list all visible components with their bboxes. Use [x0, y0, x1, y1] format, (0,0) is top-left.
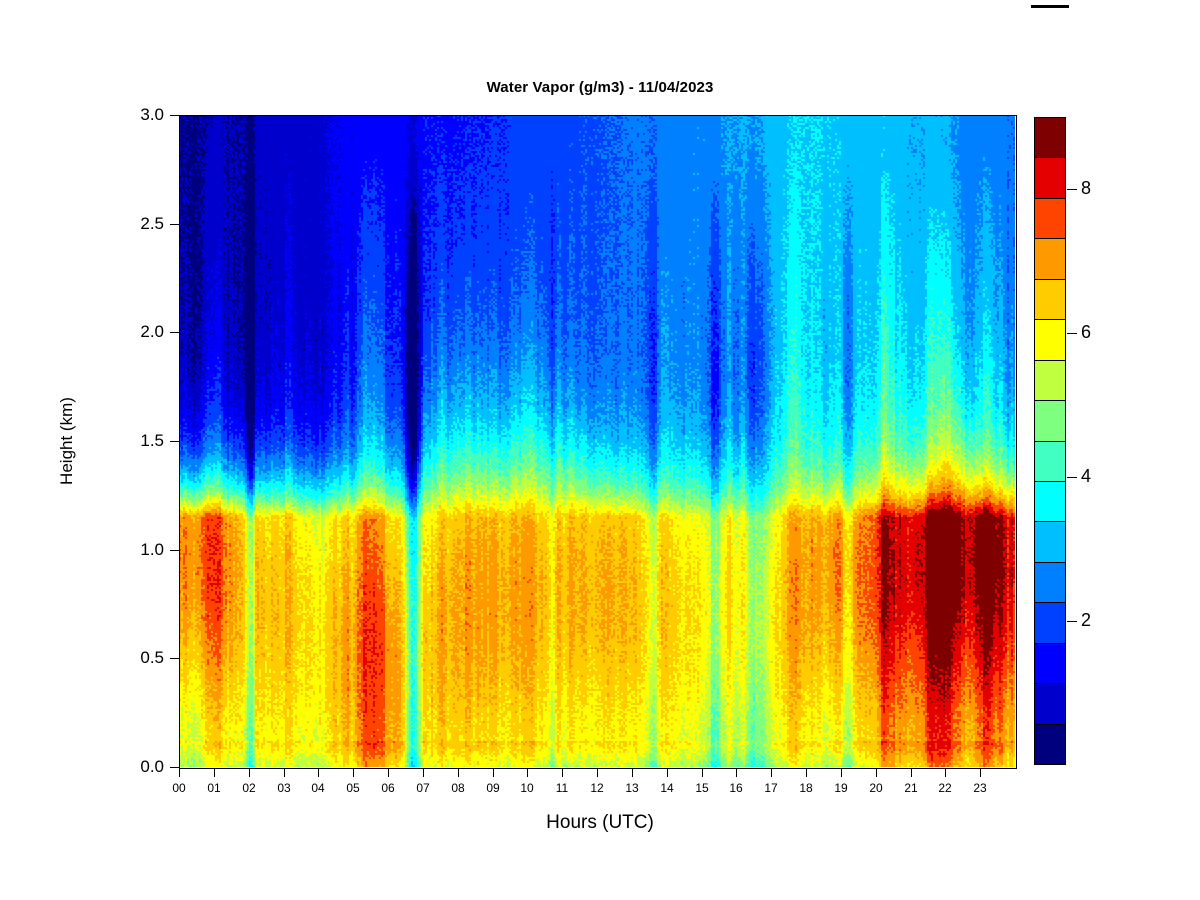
x-axis-tick-mark [284, 768, 285, 777]
water-vapor-figure: Water Vapor (g/m3) - 11/04/2023 0.00.51.… [0, 0, 1200, 900]
y-axis-title-wrap: Height (km) [52, 406, 82, 476]
colorbar-band [1035, 441, 1065, 481]
y-axis-tick-label-wrap: 0.0 [100, 758, 164, 775]
x-axis-tick-label: 22 [925, 780, 965, 796]
x-axis-tick-label: 23 [960, 780, 1000, 796]
y-axis-tick-mark [170, 115, 179, 116]
colorbar-band [1035, 602, 1065, 642]
x-axis-tick-label: 05 [333, 780, 373, 796]
x-axis-tick-label: 07 [403, 780, 443, 796]
y-axis-tick-label-wrap: 1.5 [100, 432, 164, 449]
colorbar-band [1035, 683, 1065, 723]
colorbar-tick-mark [1067, 621, 1077, 622]
y-axis-tick-label-wrap: 0.5 [100, 649, 164, 666]
x-axis-tick-label-wrap: 23 [960, 780, 1000, 796]
colorbar-band [1035, 118, 1065, 157]
x-axis-tick-mark [911, 768, 912, 777]
x-axis-tick-label: 17 [751, 780, 791, 796]
colorbar-tick-label-wrap: 2 [1081, 611, 1121, 630]
colorbar-band [1035, 643, 1065, 683]
x-axis-tick-label-wrap: 12 [577, 780, 617, 796]
y-axis-tick-label: 3.0 [104, 106, 164, 123]
y-axis-tick-label: 1.0 [104, 541, 164, 558]
x-axis-tick-mark [423, 768, 424, 777]
x-axis-tick-mark [667, 768, 668, 777]
y-axis-title: Height (km) [57, 366, 77, 516]
x-axis-tick-label: 04 [298, 780, 338, 796]
x-axis-tick-label: 20 [856, 780, 896, 796]
x-axis-tick-mark [353, 768, 354, 777]
x-axis-tick-mark [214, 768, 215, 777]
y-axis-tick-label: 2.5 [104, 215, 164, 232]
y-axis-tick-mark [170, 441, 179, 442]
x-axis-tick-label: 19 [821, 780, 861, 796]
x-axis-tick-label: 08 [438, 780, 478, 796]
x-axis-tick-mark [249, 768, 250, 777]
x-axis-tick-label-wrap: 17 [751, 780, 791, 796]
x-axis-tick-mark [388, 768, 389, 777]
x-axis-tick-label: 01 [194, 780, 234, 796]
y-axis-tick-label: 2.0 [104, 323, 164, 340]
x-axis-tick-label-wrap: 22 [925, 780, 965, 796]
y-axis-tick-mark [170, 550, 179, 551]
y-axis-tick-mark [170, 224, 179, 225]
colorbar-band [1035, 198, 1065, 238]
x-axis-tick-label-wrap: 18 [786, 780, 826, 796]
x-axis-tick-label-wrap: 02 [229, 780, 269, 796]
colorbar-band [1035, 521, 1065, 561]
x-axis-tick-mark [736, 768, 737, 777]
x-axis-tick-label-wrap: 05 [333, 780, 373, 796]
y-axis-tick-mark [170, 767, 179, 768]
x-axis-tick-label-wrap: 04 [298, 780, 338, 796]
x-axis-tick-label: 02 [229, 780, 269, 796]
x-axis-tick-mark [980, 768, 981, 777]
colorbar-tick-label-wrap: 4 [1081, 467, 1121, 486]
stray-tick-artifact [1031, 5, 1069, 8]
colorbar-tick-label-wrap: 8 [1081, 179, 1121, 198]
x-axis-tick-mark [771, 768, 772, 777]
colorbar-tick-label: 8 [1081, 179, 1121, 198]
x-axis-tick-label-wrap: 01 [194, 780, 234, 796]
x-axis-tick-label-wrap: 11 [542, 780, 582, 796]
x-axis-tick-mark [806, 768, 807, 777]
colorbar-tick-mark [1067, 477, 1077, 478]
colorbar-band [1035, 157, 1065, 197]
x-axis-tick-mark [458, 768, 459, 777]
x-axis-tick-label-wrap: 00 [159, 780, 199, 796]
x-axis-tick-label: 18 [786, 780, 826, 796]
x-axis-tick-label: 13 [612, 780, 652, 796]
colorbar-band [1035, 319, 1065, 359]
x-axis-tick-label-wrap: 14 [647, 780, 687, 796]
x-axis-tick-mark [179, 768, 180, 777]
x-axis-tick-mark [841, 768, 842, 777]
colorbar-tick-label: 2 [1081, 611, 1121, 630]
y-axis-tick-mark [170, 332, 179, 333]
x-axis-tick-label: 12 [577, 780, 617, 796]
page-title: Water Vapor (g/m3) - 11/04/2023 [0, 79, 1200, 96]
x-axis-tick-mark [562, 768, 563, 777]
x-axis-tick-mark [702, 768, 703, 777]
colorbar-band [1035, 279, 1065, 319]
colorbar-tick-label-wrap: 6 [1081, 323, 1121, 342]
colorbar-band [1035, 238, 1065, 278]
x-axis-tick-label: 14 [647, 780, 687, 796]
y-axis-tick-label: 0.0 [104, 758, 164, 775]
x-axis-tick-mark [527, 768, 528, 777]
colorbar-band [1035, 724, 1065, 764]
x-axis-tick-label: 16 [716, 780, 756, 796]
x-axis-title: Hours (UTC) [0, 812, 1200, 834]
x-axis-tick-label-wrap: 13 [612, 780, 652, 796]
y-axis-tick-mark [170, 658, 179, 659]
colorbar-band [1035, 400, 1065, 440]
x-axis-tick-label-wrap: 07 [403, 780, 443, 796]
colorbar [1034, 117, 1066, 765]
x-axis-tick-mark [945, 768, 946, 777]
colorbar-band [1035, 360, 1065, 400]
y-axis-tick-label-wrap: 1.0 [100, 541, 164, 558]
y-axis-tick-label-wrap: 2.5 [100, 215, 164, 232]
x-axis-tick-mark [632, 768, 633, 777]
heatmap-plot-area [179, 115, 1015, 767]
colorbar-band [1035, 481, 1065, 521]
x-axis-tick-mark [876, 768, 877, 777]
x-axis-tick-label: 00 [159, 780, 199, 796]
colorbar-tick-label: 4 [1081, 467, 1121, 486]
x-axis-tick-label-wrap: 20 [856, 780, 896, 796]
heatmap-canvas [179, 115, 1015, 767]
x-axis-tick-mark [493, 768, 494, 777]
y-axis-tick-label: 0.5 [104, 649, 164, 666]
colorbar-tick-label: 6 [1081, 323, 1121, 342]
x-axis-tick-label-wrap: 10 [507, 780, 547, 796]
y-axis-tick-label-wrap: 3.0 [100, 106, 164, 123]
x-axis-tick-label: 11 [542, 780, 582, 796]
x-axis-tick-label-wrap: 06 [368, 780, 408, 796]
colorbar-tick-mark [1067, 189, 1077, 190]
colorbar-band [1035, 562, 1065, 602]
x-axis-tick-label-wrap: 16 [716, 780, 756, 796]
x-axis-tick-label: 10 [507, 780, 547, 796]
x-axis-tick-mark [597, 768, 598, 777]
y-axis-tick-label-wrap: 2.0 [100, 323, 164, 340]
colorbar-tick-mark [1067, 333, 1077, 334]
x-axis-tick-label-wrap: 19 [821, 780, 861, 796]
y-axis-tick-label: 1.5 [104, 432, 164, 449]
x-axis-tick-label: 06 [368, 780, 408, 796]
x-axis-tick-mark [318, 768, 319, 777]
x-axis-tick-label-wrap: 08 [438, 780, 478, 796]
